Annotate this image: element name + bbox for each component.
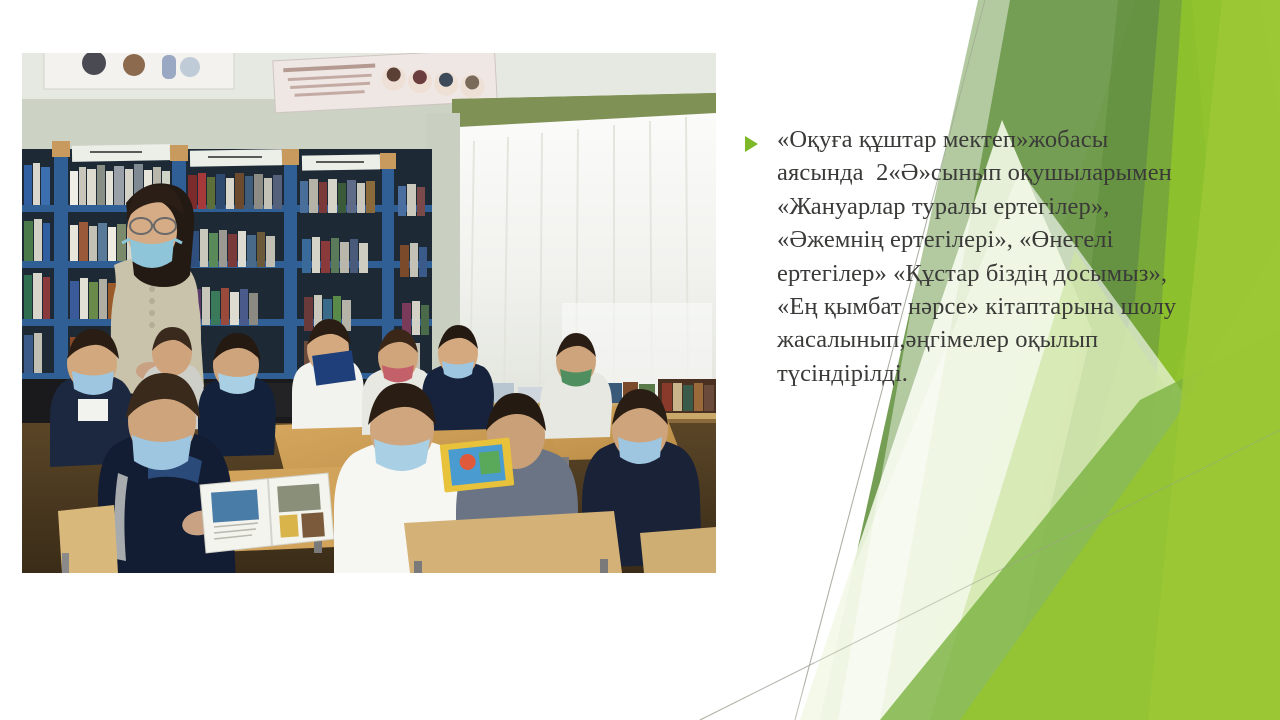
colorful-book xyxy=(440,437,515,492)
presentation-slide: «Оқуға құштар мектеп»жобасы аясында 2«Ә»… xyxy=(0,0,1280,720)
body-paragraph: «Оқуға құштар мектеп»жобасы аясында 2«Ә»… xyxy=(777,123,1185,390)
content-text-block: «Оқуға құштар мектеп»жобасы аясында 2«Ә»… xyxy=(745,123,1185,390)
open-magazine-front xyxy=(200,473,334,553)
triangle-right-icon xyxy=(745,136,758,152)
bullet-marker xyxy=(745,123,777,152)
slide-photo xyxy=(22,53,716,573)
library-reading-photo xyxy=(22,53,716,573)
